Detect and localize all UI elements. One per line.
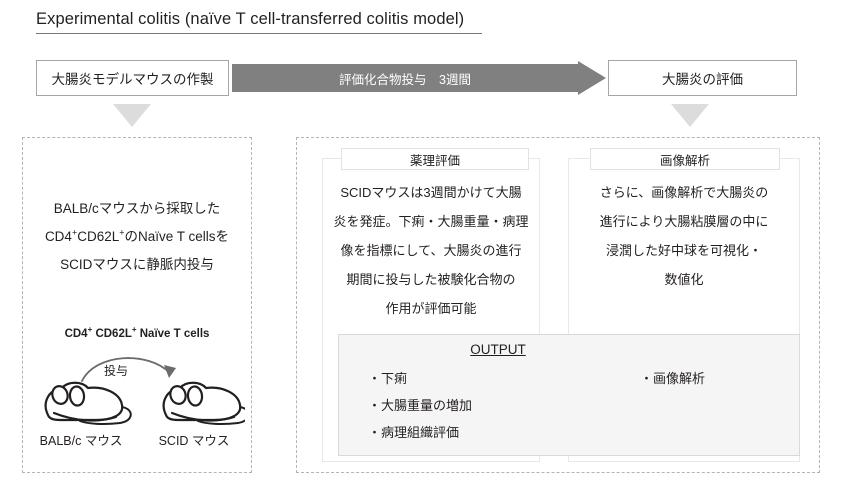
pharmacology-box-tab: 薬理評価 — [341, 148, 529, 170]
left-panel-description: BALB/cマウスから採取した CD4+CD62L+のNaïve T cells… — [30, 195, 244, 279]
imaging-line: 数値化 — [572, 265, 796, 294]
pharmacology-line: SCIDマウスは3週間かけて大腸 — [326, 178, 536, 207]
transfer-arrow-label: 投与 — [104, 362, 128, 379]
slide-canvas: Experimental colitis (naïve T cell-trans… — [0, 0, 842, 495]
flow-arrow-label: 評価化合物投与 3週間 — [232, 61, 578, 95]
left-panel-line-2-c: のNaïve T cellsを — [125, 229, 230, 244]
left-panel-line-3: SCIDマウスに静脈内投与 — [30, 251, 244, 279]
pharmacology-line: 像を指標にして、大腸炎の進行 — [326, 236, 536, 265]
cell-caption-b: CD62L — [92, 328, 132, 340]
left-panel-line-2-b: CD62L — [77, 229, 119, 244]
output-item: ・病理組織評価 — [368, 419, 648, 446]
cell-caption-a: CD4 — [65, 328, 88, 340]
imaging-box-tab: 画像解析 — [590, 148, 780, 170]
output-item-list: ・下痢 ・大腸重量の増加 ・病理組織評価 — [368, 365, 648, 446]
left-panel-line-2: CD4+CD62L+のNaïve T cellsを — [30, 223, 244, 251]
down-triangle-icon-left — [113, 104, 151, 127]
mouse-label-scid: SCID マウス — [144, 430, 244, 449]
cell-caption-c: Naïve T cells — [137, 328, 210, 340]
cell-type-caption: CD4+ CD62L+ Naïve T cells — [22, 328, 252, 340]
pharmacology-line: 期間に投与した被験化合物の — [326, 265, 536, 294]
mouse-transfer-illustration — [30, 345, 245, 430]
flow-step-start-label: 大腸炎モデルマウスの作製 — [52, 68, 214, 88]
pharmacology-box-body: SCIDマウスは3週間かけて大腸 炎を発症。下痢・大腸重量・病理 像を指標にして… — [326, 178, 536, 323]
output-item: ・下痢 — [368, 365, 648, 392]
pharmacology-box-tab-label: 薬理評価 — [410, 150, 460, 169]
output-title: OUTPUT — [338, 342, 658, 357]
flow-step-end: 大腸炎の評価 — [608, 60, 797, 96]
pharmacology-line: 炎を発症。下痢・大腸重量・病理 — [326, 207, 536, 236]
mouse-label-balbc: BALB/c マウス — [26, 430, 136, 449]
flow-step-start: 大腸炎モデルマウスの作製 — [36, 60, 229, 96]
pharmacology-line: 作用が評価可能 — [326, 294, 536, 323]
imaging-box-tab-label: 画像解析 — [660, 150, 710, 169]
imaging-line: 浸潤した好中球を可視化・ — [572, 236, 796, 265]
flow-step-end-label: 大腸炎の評価 — [662, 68, 743, 88]
left-panel-line-2-a: CD4 — [45, 229, 72, 244]
output-item-list-right: ・画像解析 — [640, 365, 800, 392]
output-item: ・画像解析 — [640, 365, 800, 392]
imaging-line: 進行により大腸粘膜層の中に — [572, 207, 796, 236]
down-triangle-icon-right — [671, 104, 709, 127]
imaging-line: さらに、画像解析で大腸炎の — [572, 178, 796, 207]
title-underline-rule — [36, 33, 482, 34]
output-item: ・大腸重量の増加 — [368, 392, 648, 419]
left-panel-line-1: BALB/cマウスから採取した — [30, 195, 244, 223]
imaging-box-body: さらに、画像解析で大腸炎の 進行により大腸粘膜層の中に 浸潤した好中球を可視化・… — [572, 178, 796, 294]
page-title: Experimental colitis (naïve T cell-trans… — [36, 10, 464, 29]
